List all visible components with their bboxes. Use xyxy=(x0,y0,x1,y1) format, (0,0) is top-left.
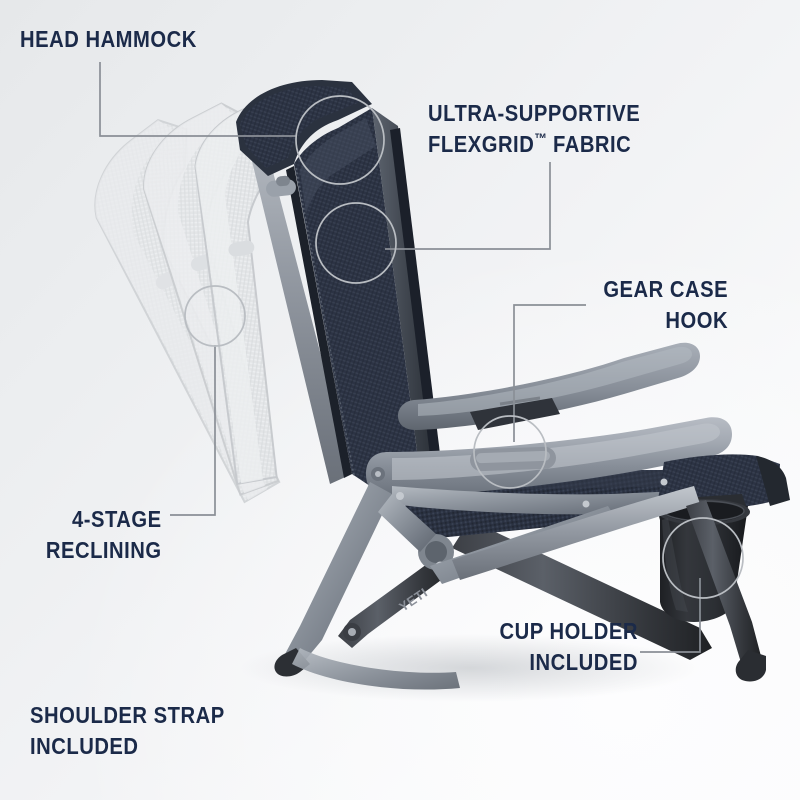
shoulder-strap-line2: INCLUDED xyxy=(30,731,225,762)
reclining-line1: 4-STAGE xyxy=(46,504,162,535)
callout-label-cup-holder-included: CUP HOLDER INCLUDED xyxy=(500,616,638,677)
callout-label-shoulder-strap-included: SHOULDER STRAP INCLUDED xyxy=(30,700,225,761)
cup-holder-line1: CUP HOLDER xyxy=(500,616,638,647)
gear-case-line2: HOOK xyxy=(603,305,728,336)
cup-holder-line2: INCLUDED xyxy=(500,647,638,678)
flexgrid-line1: ULTRA-SUPPORTIVE xyxy=(428,98,640,129)
head-hammock-line1: HEAD HAMMOCK xyxy=(20,24,197,55)
flexgrid-line2: FLEXGRID™ FABRIC xyxy=(428,129,640,160)
front-diagonal-bar xyxy=(284,482,392,664)
flexgrid-fabric-word: FABRIC xyxy=(547,131,631,157)
callout-label-four-stage-reclining: 4-STAGE RECLINING xyxy=(46,504,162,565)
reclining-line2: RECLINING xyxy=(46,535,162,566)
callout-label-head-hammock: HEAD HAMMOCK xyxy=(20,24,197,55)
flexgrid-word: FLEXGRID xyxy=(428,131,534,157)
trademark-icon: ™ xyxy=(534,131,547,147)
infographic-canvas: YETI xyxy=(0,0,800,800)
shoulder-strap-line1: SHOULDER STRAP xyxy=(30,700,225,731)
callout-label-gear-case-hook: GEAR CASE HOOK xyxy=(603,274,728,335)
callout-label-flexgrid-fabric: ULTRA-SUPPORTIVE FLEXGRID™ FABRIC xyxy=(428,98,640,159)
armrest-rear xyxy=(398,343,700,430)
product-photo: YETI xyxy=(0,0,800,800)
gear-case-line1: GEAR CASE xyxy=(603,274,728,305)
